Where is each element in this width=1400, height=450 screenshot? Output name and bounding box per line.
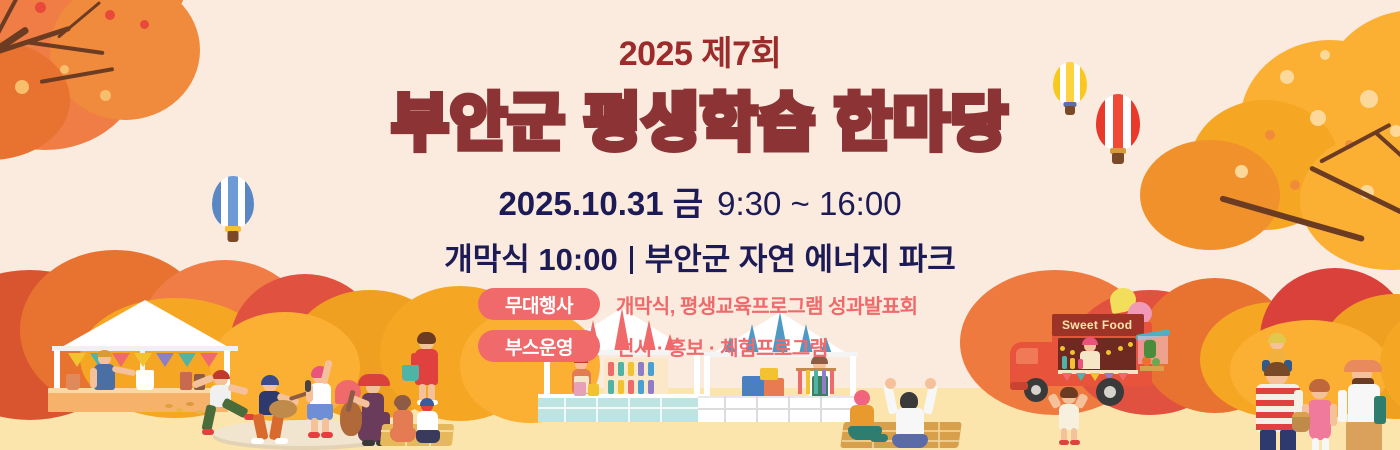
event-title: 부안군 평생학습 한마당	[0, 72, 1400, 162]
event-venue: 부안군 자연 에너지 파크	[645, 242, 956, 277]
program-text-stage: 개막식, 평생교육프로그램 성과발표회	[616, 290, 918, 319]
basket-icon	[1292, 416, 1310, 432]
guitar-icon	[269, 400, 297, 418]
event-time: 9:30 ~ 16:00	[717, 185, 901, 222]
opening-ceremony-label: 개막식 10:00	[444, 242, 617, 277]
food-truck: Sweet Food	[1010, 300, 1170, 410]
program-text-booth: 전시 · 홍보 · 체험프로그램	[616, 332, 828, 361]
event-subtitle: 2025 제7회	[0, 26, 1400, 75]
food-truck-sign: Sweet Food	[1062, 318, 1132, 332]
shoulder-bag-icon	[1374, 396, 1386, 424]
microphone-icon	[305, 380, 311, 392]
festival-banner: Sweet Food	[0, 0, 1400, 450]
program-row: 부스운영 전시 · 홍보 · 체험프로그램	[478, 330, 918, 362]
program-rows: 무대행사 개막식, 평생교육프로그램 성과발표회 부스운영 전시 · 홍보 · …	[478, 288, 918, 372]
event-date: 2025.10.31 금	[498, 185, 703, 222]
program-pill-stage[interactable]: 무대행사	[478, 288, 600, 320]
event-date-line: 2025.10.31 금9:30 ~ 16:00	[0, 177, 1400, 225]
event-venue-line: 개막식 10:00부안군 자연 에너지 파크	[0, 234, 1400, 279]
program-pill-booth[interactable]: 부스운영	[478, 330, 600, 362]
venue-separator	[630, 246, 633, 274]
program-row: 무대행사 개막식, 평생교육프로그램 성과발표회	[478, 288, 918, 320]
